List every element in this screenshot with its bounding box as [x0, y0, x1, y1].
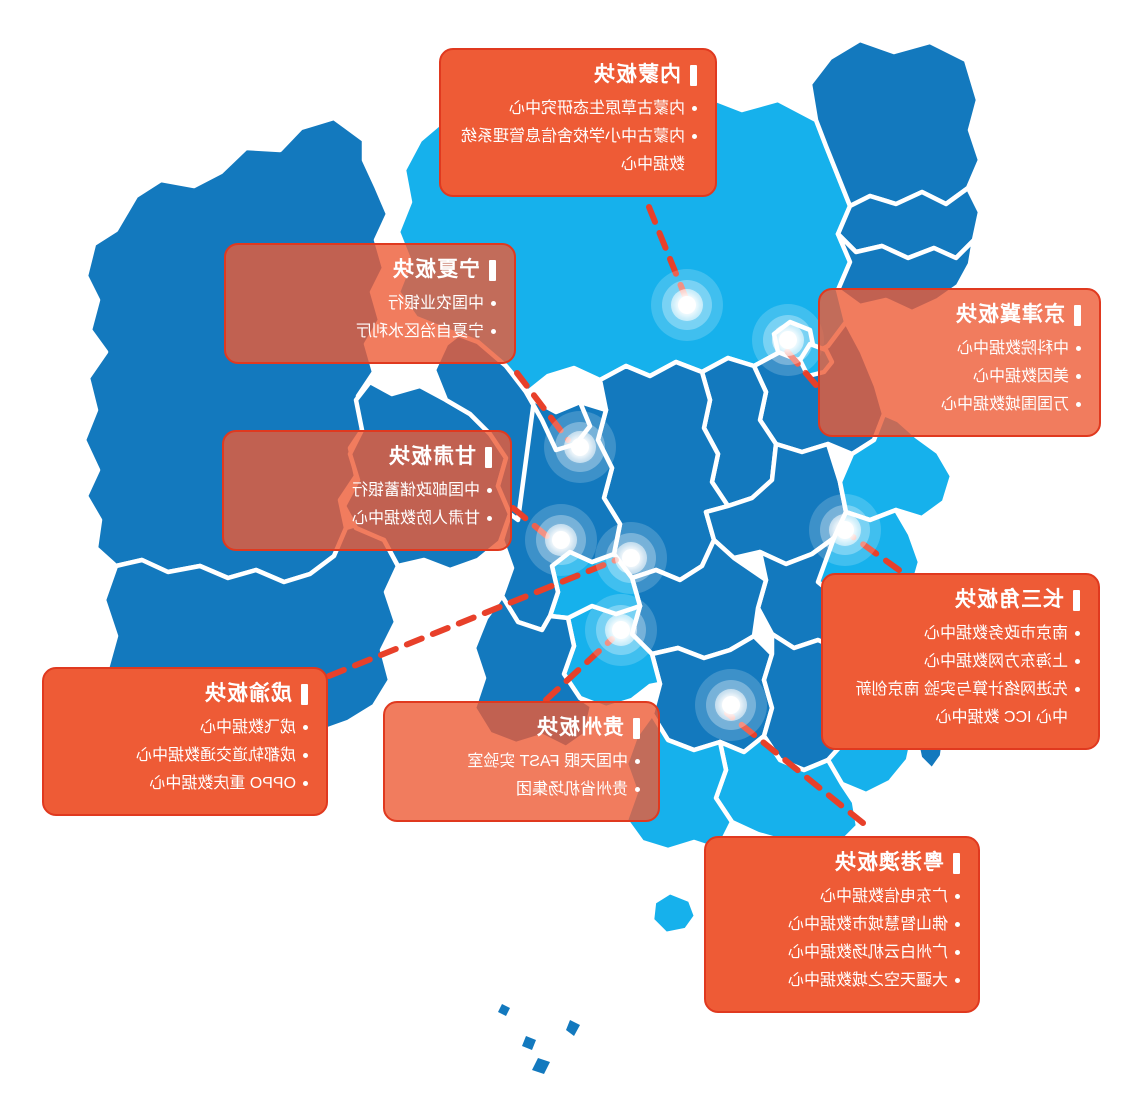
list-item-label: 成都轨道交通数据中心 — [62, 742, 296, 770]
card-header: 内蒙板块 — [459, 64, 697, 86]
callout-card-changsanjiao[interactable]: 长三角板块 南京市政务数据中心 上海东方网数据中心 先进网络计算与实验 南京创新… — [821, 573, 1100, 750]
card-title: 成渝板块 — [204, 683, 292, 705]
card-title: 宁夏板块 — [392, 259, 480, 281]
list-item: 贵州省机场集团 — [403, 776, 640, 804]
list-item-label: 贵州省机场集团 — [403, 776, 628, 804]
callout-card-chengyu[interactable]: 成渝板块 成飞数据中心 成都轨道交通数据中心 OPPO 重庆数据中心 — [42, 667, 328, 816]
list-item: 宁夏自治区水利厅 — [244, 318, 496, 346]
marker-core-dot — [622, 549, 640, 567]
card-title: 京津冀板块 — [955, 304, 1065, 326]
list-item-label: 美因数据中心 — [838, 363, 1069, 391]
bullet-icon — [955, 922, 960, 927]
list-item: 成飞数据中心 — [62, 714, 308, 742]
bullet-icon — [303, 725, 308, 730]
list-item: 中国天眼 FAST 实验室 — [403, 748, 640, 776]
card-item-list: 内蒙古草原生态研究中心 内蒙古中小学校舍信息管理系统数据中心 — [459, 95, 697, 179]
marker-core-dot — [722, 696, 740, 714]
title-accent-bar — [489, 260, 496, 281]
marker-jingjinji[interactable] — [752, 304, 824, 376]
bullet-icon — [1076, 346, 1081, 351]
title-accent-bar — [953, 853, 960, 874]
bullet-icon — [692, 106, 697, 111]
marker-core-dot — [836, 521, 854, 539]
marker-neimeng[interactable] — [651, 269, 723, 341]
bullet-icon — [635, 759, 640, 764]
list-item-label: 甘肃人防数据中心 — [242, 505, 480, 533]
list-item-label: 万国围城数据中心 — [838, 391, 1069, 419]
card-title: 甘肃板块 — [388, 446, 476, 468]
card-header: 长三角板块 — [841, 589, 1080, 611]
list-item-label: 成飞数据中心 — [62, 714, 296, 742]
bullet-icon — [955, 978, 960, 983]
list-item: 中国农业银行 — [244, 290, 496, 318]
card-header: 京津冀板块 — [838, 304, 1081, 326]
marker-changsan[interactable] — [809, 494, 881, 566]
bullet-icon — [1075, 631, 1080, 636]
title-accent-bar — [301, 684, 308, 705]
callout-card-guizhou[interactable]: 贵州板块 中国天眼 FAST 实验室 贵州省机场集团 — [383, 701, 660, 822]
south-china-sea-islets — [498, 1004, 580, 1074]
bullet-icon — [692, 134, 697, 139]
list-item: 上海东方网数据中心 — [841, 648, 1080, 676]
list-item: 大疆天空之城数据中心 — [724, 967, 960, 995]
bullet-icon — [487, 516, 492, 521]
mirrored-composition: 内蒙板块 内蒙古草原生态研究中心 内蒙古中小学校舍信息管理系统数据中心 宁夏板块… — [0, 0, 1146, 1095]
list-item-label: 广州白云机场数据中心 — [724, 939, 948, 967]
bullet-icon — [1076, 402, 1081, 407]
marker-core-dot — [779, 331, 797, 349]
card-item-list: 南京市政务数据中心 上海东方网数据中心 先进网络计算与实验 南京创新中心 ICC… — [841, 620, 1080, 732]
card-title: 长三角板块 — [954, 589, 1064, 611]
list-item: 中科院数据中心 — [838, 335, 1081, 363]
list-item-label: 大疆天空之城数据中心 — [724, 967, 948, 995]
list-item: 成都轨道交通数据中心 — [62, 742, 308, 770]
list-item-label: 上海东方网数据中心 — [841, 648, 1068, 676]
marker-core-dot — [552, 531, 570, 549]
list-item: 佛山智慧城市数据中心 — [724, 911, 960, 939]
list-item: 内蒙古中小学校舍信息管理系统数据中心 — [459, 123, 697, 179]
bullet-icon — [491, 301, 496, 306]
card-item-list: 成飞数据中心 成都轨道交通数据中心 OPPO 重庆数据中心 — [62, 714, 308, 798]
marker-chengyu[interactable] — [595, 522, 667, 594]
list-item: 甘肃人防数据中心 — [242, 505, 492, 533]
marker-guizhou[interactable] — [585, 594, 657, 666]
list-item: 内蒙古草原生态研究中心 — [459, 95, 697, 123]
title-accent-bar — [690, 65, 697, 86]
list-item: 南京市政务数据中心 — [841, 620, 1080, 648]
bullet-icon — [491, 329, 496, 334]
card-header: 成渝板块 — [62, 683, 308, 705]
list-item-label: 先进网络计算与实验 南京创新中心 ICC 数据中心 — [841, 676, 1068, 732]
list-item-label: 宁夏自治区水利厅 — [244, 318, 484, 346]
bullet-icon — [955, 894, 960, 899]
list-item-label: 内蒙古中小学校舍信息管理系统数据中心 — [459, 123, 685, 179]
marker-gansu[interactable] — [525, 504, 597, 576]
bullet-icon — [303, 781, 308, 786]
list-item-label: 中国天眼 FAST 实验室 — [403, 748, 628, 776]
list-item-label: 中科院数据中心 — [838, 335, 1069, 363]
card-item-list: 中国邮政储蓄银行 甘肃人防数据中心 — [242, 477, 492, 533]
card-item-list: 广东电信数据中心 佛山智慧城市数据中心 广州白云机场数据中心 大疆天空之城数据中… — [724, 883, 960, 995]
callout-card-jingjinji[interactable]: 京津冀板块 中科院数据中心 美因数据中心 万国围城数据中心 — [818, 288, 1101, 437]
list-item: 广州白云机场数据中心 — [724, 939, 960, 967]
bullet-icon — [487, 488, 492, 493]
list-item: 先进网络计算与实验 南京创新中心 ICC 数据中心 — [841, 676, 1080, 732]
card-item-list: 中国天眼 FAST 实验室 贵州省机场集团 — [403, 748, 640, 804]
list-item-label: 佛山智慧城市数据中心 — [724, 911, 948, 939]
marker-yuegangao[interactable] — [695, 669, 767, 741]
card-header: 宁夏板块 — [244, 259, 496, 281]
card-title: 贵州板块 — [536, 717, 624, 739]
list-item: OPPO 重庆数据中心 — [62, 770, 308, 798]
title-accent-bar — [485, 447, 492, 468]
list-item-label: OPPO 重庆数据中心 — [62, 770, 296, 798]
province-hainan — [652, 892, 696, 934]
list-item: 中国邮政储蓄银行 — [242, 477, 492, 505]
card-header: 粤港澳板块 — [724, 852, 960, 874]
marker-core-dot — [678, 296, 696, 314]
callout-card-yuegangao[interactable]: 粤港澳板块 广东电信数据中心 佛山智慧城市数据中心 广州白云机场数据中心 大疆天… — [704, 836, 980, 1013]
list-item-label: 内蒙古草原生态研究中心 — [459, 95, 685, 123]
bullet-icon — [955, 950, 960, 955]
list-item-label: 中国邮政储蓄银行 — [242, 477, 480, 505]
card-item-list: 中科院数据中心 美因数据中心 万国围城数据中心 — [838, 335, 1081, 419]
marker-ningxia[interactable] — [544, 411, 616, 483]
marker-core-dot — [571, 438, 589, 456]
title-accent-bar — [633, 718, 640, 739]
bullet-icon — [1076, 374, 1081, 379]
card-title: 粤港澳板块 — [834, 852, 944, 874]
callout-card-ningxia[interactable]: 宁夏板块 中国农业银行 宁夏自治区水利厅 — [224, 243, 516, 364]
list-item-label: 中国农业银行 — [244, 290, 484, 318]
title-accent-bar — [1074, 305, 1081, 326]
callout-card-neimeng[interactable]: 内蒙板块 内蒙古草原生态研究中心 内蒙古中小学校舍信息管理系统数据中心 — [439, 48, 717, 197]
list-item-label: 广东电信数据中心 — [724, 883, 948, 911]
card-header: 甘肃板块 — [242, 446, 492, 468]
list-item: 广东电信数据中心 — [724, 883, 960, 911]
list-item: 美因数据中心 — [838, 363, 1081, 391]
callout-card-gansu[interactable]: 甘肃板块 中国邮政储蓄银行 甘肃人防数据中心 — [222, 430, 512, 551]
list-item: 万国围城数据中心 — [838, 391, 1081, 419]
marker-core-dot — [612, 621, 630, 639]
card-title: 内蒙板块 — [593, 64, 681, 86]
card-header: 贵州板块 — [403, 717, 640, 739]
infographic-root: 内蒙板块 内蒙古草原生态研究中心 内蒙古中小学校舍信息管理系统数据中心 宁夏板块… — [0, 0, 1146, 1095]
bullet-icon — [635, 787, 640, 792]
bullet-icon — [1075, 687, 1080, 692]
list-item-label: 南京市政务数据中心 — [841, 620, 1068, 648]
title-accent-bar — [1073, 590, 1080, 611]
card-item-list: 中国农业银行 宁夏自治区水利厅 — [244, 290, 496, 346]
bullet-icon — [303, 753, 308, 758]
bullet-icon — [1075, 659, 1080, 664]
